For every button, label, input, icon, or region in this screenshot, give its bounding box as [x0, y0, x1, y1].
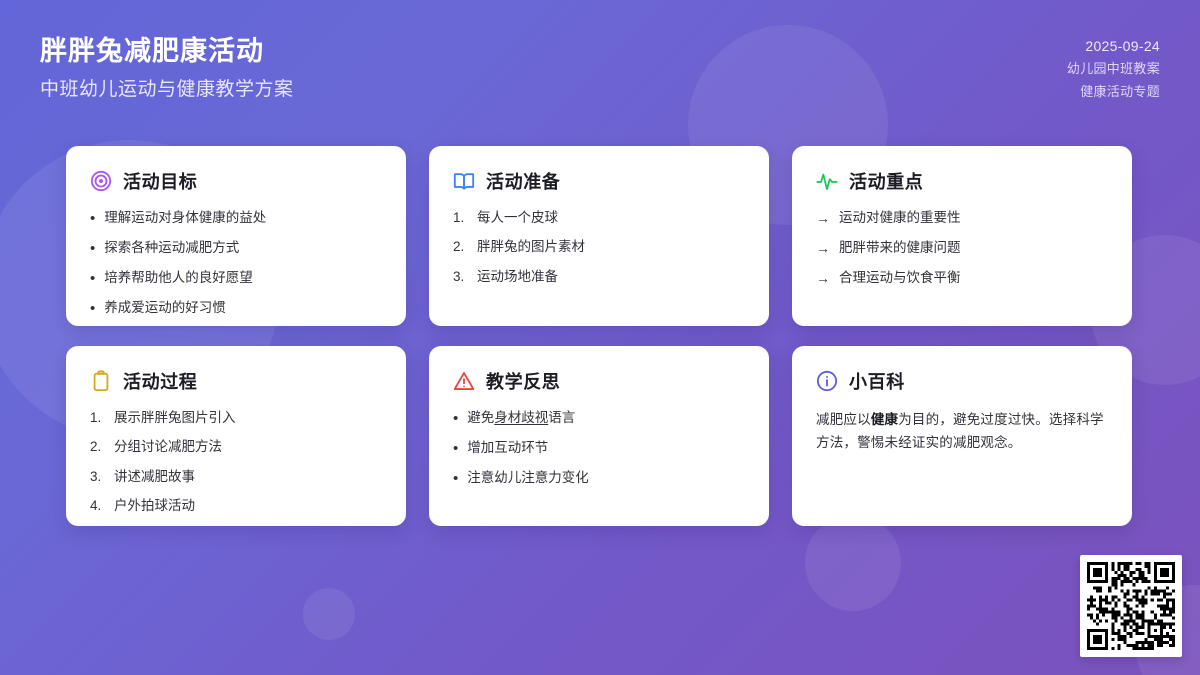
list-item: →肥胖带来的健康问题: [816, 238, 1108, 259]
list-item-text: 注意幼儿注意力变化: [467, 468, 589, 488]
book-icon: [453, 170, 475, 192]
list-item: •注意幼儿注意力变化: [453, 468, 745, 489]
list-item: 1.展示胖胖兔图片引入: [90, 408, 382, 428]
qr-code[interactable]: [1080, 555, 1182, 657]
list-marker: 3.: [90, 467, 105, 487]
list-item: →合理运动与饮食平衡: [816, 268, 1108, 289]
header-meta-line-2: 健康活动专题: [1067, 81, 1160, 100]
card-grid: 活动目标•理解运动对身体健康的益处•探索各种运动减肥方式•培养帮助他人的良好愿望…: [66, 146, 1136, 526]
list-marker: •: [90, 238, 95, 259]
list-item-text: 避免身材歧视语言: [467, 408, 575, 428]
card-mini-encyclopedia: 小百科减肥应以健康为目的，避免过度过快。选择科学方法，警惕未经证实的减肥观念。: [792, 346, 1132, 526]
card-activity-focus: 活动重点→运动对健康的重要性→肥胖带来的健康问题→合理运动与饮食平衡: [792, 146, 1132, 326]
list-item-text: 增加互动环节: [467, 438, 548, 458]
pulse-icon: [816, 170, 838, 192]
list-marker: 3.: [453, 267, 468, 287]
list-marker: •: [453, 438, 458, 459]
list-item-text: 展示胖胖兔图片引入: [114, 408, 236, 428]
list-marker: •: [453, 468, 458, 489]
list-item-text: 运动对健康的重要性: [839, 208, 961, 228]
list-item-text: 理解运动对身体健康的益处: [104, 208, 266, 228]
poster-header: 胖胖兔减肥康活动 中班幼儿运动与健康教学方案 2025-09-24 幼儿园中班教…: [0, 0, 1200, 132]
card-header: 小百科: [816, 368, 1108, 394]
list-marker: 1.: [453, 208, 468, 228]
warning-triangle-icon: [453, 370, 475, 392]
background-circle-4: [303, 588, 355, 640]
list-marker: 2.: [90, 437, 105, 457]
card-list: •理解运动对身体健康的益处•探索各种运动减肥方式•培养帮助他人的良好愿望•养成爱…: [90, 208, 382, 319]
list-marker: →: [816, 208, 830, 229]
card-list: •避免身材歧视语言•增加互动环节•注意幼儿注意力变化: [453, 408, 745, 489]
list-marker: →: [816, 238, 830, 259]
list-item: •养成爱运动的好习惯: [90, 298, 382, 319]
list-marker: •: [90, 298, 95, 319]
info-icon: [816, 370, 838, 392]
list-item-text: 分组讨论减肥方法: [114, 437, 222, 457]
card-activity-preparation: 活动准备1.每人一个皮球2.胖胖兔的图片素材3.运动场地准备: [429, 146, 769, 326]
card-title: 小百科: [849, 368, 905, 394]
header-title-group: 胖胖兔减肥康活动 中班幼儿运动与健康教学方案: [40, 34, 294, 102]
list-marker: →: [816, 268, 830, 289]
list-item-text: 合理运动与饮食平衡: [839, 268, 961, 288]
list-item: •避免身材歧视语言: [453, 408, 745, 429]
list-marker: •: [90, 208, 95, 229]
qr-code-image: [1087, 562, 1175, 650]
list-item-text: 养成爱运动的好习惯: [104, 298, 226, 318]
card-title: 活动准备: [486, 168, 560, 194]
card-teaching-reflection: 教学反思•避免身材歧视语言•增加互动环节•注意幼儿注意力变化: [429, 346, 769, 526]
card-list: →运动对健康的重要性→肥胖带来的健康问题→合理运动与饮食平衡: [816, 208, 1108, 289]
card-activity-process: 活动过程1.展示胖胖兔图片引入2.分组讨论减肥方法3.讲述减肥故事4.户外拍球活…: [66, 346, 406, 526]
card-header: 活动目标: [90, 168, 382, 194]
page-subtitle: 中班幼儿运动与健康教学方案: [40, 78, 294, 103]
list-item: •增加互动环节: [453, 438, 745, 459]
card-title: 活动重点: [849, 168, 923, 194]
list-item: 4.户外拍球活动: [90, 496, 382, 516]
list-item: →运动对健康的重要性: [816, 208, 1108, 229]
list-item-text: 培养帮助他人的良好愿望: [104, 268, 253, 288]
card-list: 1.每人一个皮球2.胖胖兔的图片素材3.运动场地准备: [453, 208, 745, 287]
list-item: •培养帮助他人的良好愿望: [90, 268, 382, 289]
clipboard-icon: [90, 370, 112, 392]
card-list: 1.展示胖胖兔图片引入2.分组讨论减肥方法3.讲述减肥故事4.户外拍球活动: [90, 408, 382, 516]
list-item-text: 探索各种运动减肥方式: [104, 238, 239, 258]
header-meta-group: 2025-09-24 幼儿园中班教案 健康活动专题: [1067, 34, 1160, 100]
page-title: 胖胖兔减肥康活动: [40, 34, 294, 69]
list-item: 1.每人一个皮球: [453, 208, 745, 228]
list-item: 2.胖胖兔的图片素材: [453, 237, 745, 257]
card-header: 教学反思: [453, 368, 745, 394]
list-marker: 1.: [90, 408, 105, 428]
list-item: 3.讲述减肥故事: [90, 467, 382, 487]
list-item-text: 讲述减肥故事: [114, 467, 195, 487]
poster-root: 胖胖兔减肥康活动 中班幼儿运动与健康教学方案 2025-09-24 幼儿园中班教…: [0, 0, 1200, 675]
card-header: 活动重点: [816, 168, 1108, 194]
card-header: 活动过程: [90, 368, 382, 394]
target-icon: [90, 170, 112, 192]
list-item: 3.运动场地准备: [453, 267, 745, 287]
list-marker: 2.: [453, 237, 468, 257]
card-title: 活动过程: [123, 368, 197, 394]
header-meta-line-1: 幼儿园中班教案: [1067, 58, 1160, 77]
list-item-text: 胖胖兔的图片素材: [477, 237, 585, 257]
list-item-text: 户外拍球活动: [114, 496, 195, 516]
list-marker: 4.: [90, 496, 105, 516]
list-marker: •: [453, 408, 458, 429]
list-marker: •: [90, 268, 95, 289]
card-title: 教学反思: [486, 368, 560, 394]
card-title: 活动目标: [123, 168, 197, 194]
list-item-text: 肥胖带来的健康问题: [839, 238, 961, 258]
list-item-text: 每人一个皮球: [477, 208, 558, 228]
card-header: 活动准备: [453, 168, 745, 194]
list-item: 2.分组讨论减肥方法: [90, 437, 382, 457]
card-activity-goals: 活动目标•理解运动对身体健康的益处•探索各种运动减肥方式•培养帮助他人的良好愿望…: [66, 146, 406, 326]
card-paragraph: 减肥应以健康为目的，避免过度过快。选择科学方法，警惕未经证实的减肥观念。: [816, 408, 1108, 454]
list-item-text: 运动场地准备: [477, 267, 558, 287]
list-item: •理解运动对身体健康的益处: [90, 208, 382, 229]
background-circle-3: [805, 515, 901, 611]
list-item: •探索各种运动减肥方式: [90, 238, 382, 259]
header-date: 2025-09-24: [1067, 38, 1160, 54]
